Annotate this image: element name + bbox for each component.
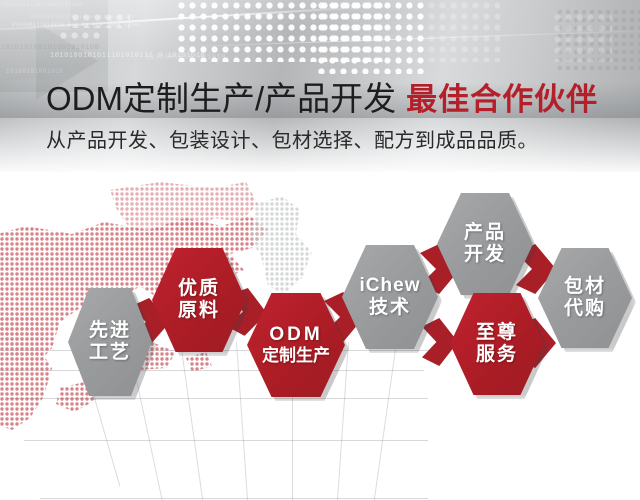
- hex-step-1-line2: 工艺: [89, 342, 131, 364]
- hex-step-5-line1: 产品: [464, 222, 506, 244]
- hex-step-6-line2: 服务: [476, 344, 518, 366]
- page-title: ODM定制生产/产品开发 最佳合作伙伴: [46, 72, 598, 120]
- hex-step-4-line1: iChew: [360, 275, 421, 297]
- hex-step-2-line1: 优质: [178, 278, 220, 300]
- hex-step-4-line2: 技术: [369, 297, 411, 319]
- page-subtitle: 从产品开发、包装设计、包材选择、配方到成品品质。: [46, 124, 538, 153]
- hex-step-7-line2: 代购: [564, 298, 606, 320]
- promo-banner: 01010010100101001010010 0100100101010010…: [0, 0, 640, 500]
- hex-step-6-line1: 至尊: [476, 322, 518, 344]
- hex-step-3-line2: 定制生产: [262, 346, 330, 366]
- title-accent-text: 最佳合作伙伴: [406, 74, 598, 119]
- hex-step-7-line1: 包材: [564, 276, 606, 298]
- hex-step-3-line1: ODM: [269, 324, 322, 346]
- hex-step-2-line2: 原料: [178, 300, 220, 322]
- title-main-text: ODM定制生产/产品开发: [46, 72, 396, 120]
- hex-step-5-line2: 开发: [464, 244, 506, 266]
- hex-step-1-line1: 先进: [89, 320, 131, 342]
